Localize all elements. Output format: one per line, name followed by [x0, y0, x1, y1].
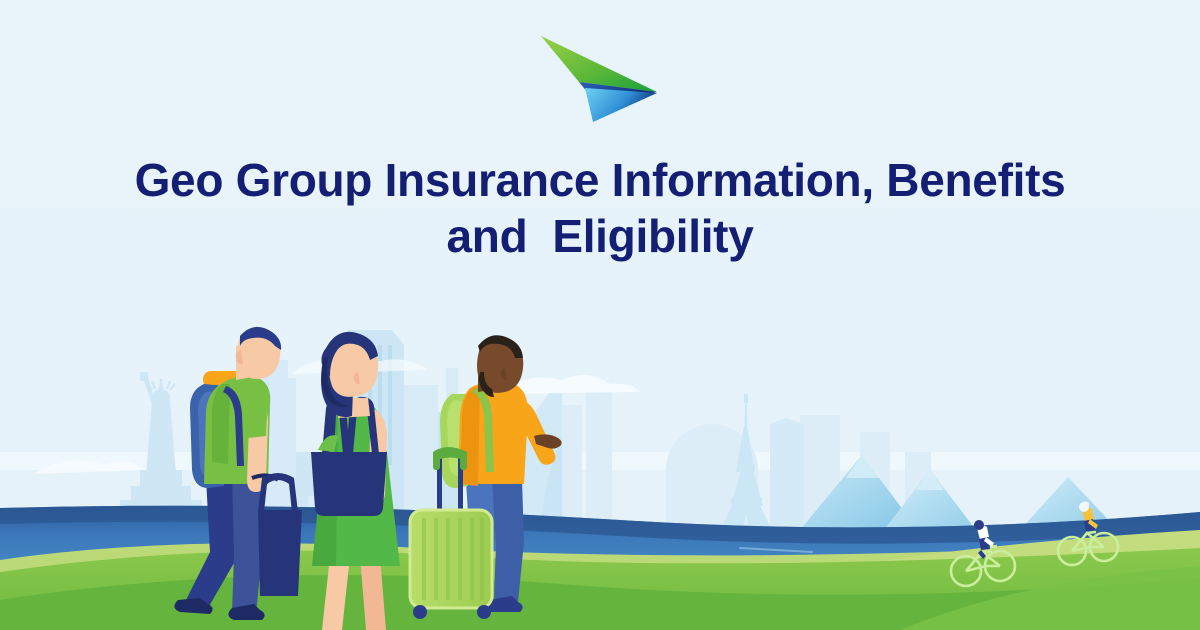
suitcase-wheel	[413, 605, 427, 619]
paper-plane-logo	[535, 30, 665, 126]
suitcase-wheel	[477, 605, 491, 619]
duffel-bag	[258, 510, 302, 596]
hero-banner: Geo Group Insurance Information, Benefit…	[0, 0, 1200, 630]
logo-green-wing	[541, 36, 657, 92]
logo-blue-wing	[585, 88, 657, 122]
title-container: Geo Group Insurance Information, Benefit…	[0, 152, 1200, 264]
tote-bag	[311, 452, 387, 516]
page-title: Geo Group Insurance Information, Benefit…	[60, 152, 1140, 264]
logo-container	[0, 28, 1200, 128]
